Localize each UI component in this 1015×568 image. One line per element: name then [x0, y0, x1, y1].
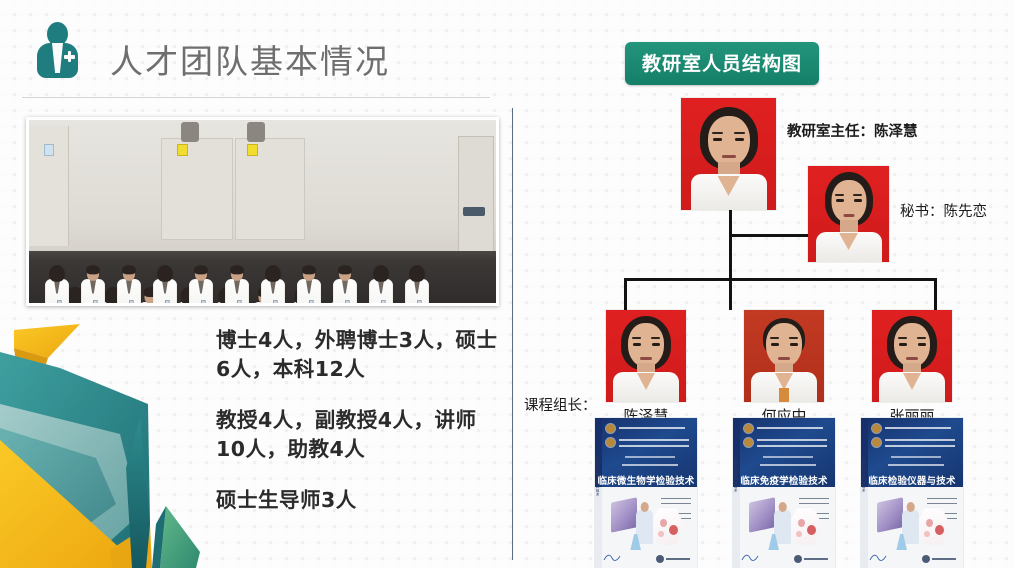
portrait-leader-2 — [744, 310, 824, 402]
portrait-eye-left — [633, 343, 641, 346]
photo-biohazard-sign-right — [247, 144, 258, 156]
book-title: 临床免疫学检验技术 — [733, 473, 835, 487]
book-spine — [861, 418, 868, 568]
portrait-director — [681, 98, 776, 210]
book-publisher-logo — [794, 555, 828, 563]
stat-line-supervisors: 硕士生导师3人 — [216, 486, 498, 515]
book-subtitle-line-5 — [760, 464, 816, 466]
portrait-brow-right — [789, 337, 798, 339]
portrait-brow-right — [651, 337, 660, 339]
photo-person-badge — [93, 300, 98, 306]
portrait-brow-left — [770, 337, 779, 339]
book-illustration — [609, 496, 684, 550]
book-subtitle-line-4 — [625, 456, 675, 458]
book-subtitle-line-3 — [885, 445, 955, 447]
book-publisher-logo — [656, 555, 690, 563]
book-illus-person-head — [778, 502, 787, 512]
org-line-branch-horizontal — [624, 278, 937, 281]
portrait-leader-1 — [606, 310, 686, 402]
book-emblem-top — [744, 424, 753, 433]
portrait-eye-right — [790, 343, 798, 346]
portrait-brow-left — [898, 337, 907, 339]
photo-person-badge — [381, 300, 386, 306]
photo-person-badge — [417, 300, 422, 306]
stat-line-titles: 教授4人，副教授4人，讲师10人，助教4人 — [216, 406, 498, 464]
portrait-brow-left — [835, 194, 844, 196]
book-subtitle-line-2 — [619, 439, 689, 441]
section-badge: 教研室人员结构图 — [625, 42, 819, 85]
book-illus-dot-3 — [924, 531, 930, 538]
photo-door-sign — [44, 144, 54, 156]
book-publisher-name — [932, 558, 956, 560]
book-emblem-bottom — [872, 438, 881, 447]
book-cover-2: 临床免疫学检验技术临床免疫学检验技术 — [733, 418, 835, 568]
photo-person-hair — [373, 265, 389, 282]
org-line-branch-right — [934, 278, 937, 310]
portrait-brow-left — [712, 132, 723, 134]
portrait-mouth — [906, 357, 918, 360]
org-line-branch-left — [624, 278, 627, 310]
book-cover-3: 临床检验仪器与技术临床检验仪器与技术 — [861, 418, 963, 568]
photo-person-badge — [201, 300, 206, 306]
book-emblem-top — [606, 424, 615, 433]
book-illus-dot-1 — [798, 519, 805, 527]
photo-person-hair — [157, 265, 173, 282]
book-subtitle-line-4 — [763, 456, 813, 458]
book-signature — [603, 553, 625, 562]
book-emblem-bottom — [606, 438, 615, 447]
medical-cross-icon-vertical — [68, 51, 72, 62]
book-illus-person — [636, 510, 653, 543]
book-spine — [733, 418, 740, 568]
header-divider — [22, 97, 490, 98]
book-illus-person — [902, 510, 919, 543]
org-label-director: 教研室主任：陈泽慧 — [787, 120, 918, 141]
photo-person-hair — [194, 265, 208, 274]
portrait-eye-left — [771, 343, 779, 346]
book-subtitle-line-5 — [888, 464, 944, 466]
book-illus-hexagon — [650, 508, 685, 545]
book-publisher-name — [666, 558, 690, 560]
deco-green-wedge — [160, 506, 200, 568]
team-statistics: 博士4人，外聘博士3人，硕士6人，本科12人 教授4人，副教授4人，讲师10人，… — [216, 326, 498, 516]
portrait-secretary — [808, 166, 889, 262]
photo-person-hair — [230, 265, 244, 274]
book-illus-person-head — [906, 502, 915, 512]
photo-duct-right — [247, 122, 265, 142]
photo-person-hair — [409, 265, 425, 282]
book-illus-box — [749, 498, 775, 534]
book-illustration — [875, 496, 950, 550]
book-illus-box — [877, 498, 903, 534]
portrait-eye-right — [652, 343, 660, 346]
photo-person-hair — [265, 265, 281, 282]
book-publisher-name — [804, 558, 828, 560]
book-illus-hexagon — [788, 508, 823, 545]
photo-duct-left — [181, 122, 199, 142]
book-publisher-mark — [794, 555, 802, 563]
book-subtitle-line-1 — [757, 427, 823, 429]
portrait-eye-left — [836, 199, 844, 202]
org-label-secretary: 秘书：陈先恋 — [900, 200, 987, 221]
book-cover-1: 临床微生物学检验技术临床微生物学检验技术 — [595, 418, 697, 568]
book-illustration — [747, 496, 822, 550]
book-subtitle-line-2 — [757, 439, 827, 441]
portrait-brow-right — [734, 132, 745, 134]
book-emblem-bottom — [744, 438, 753, 447]
portrait-mouth — [722, 155, 736, 158]
photo-lab-freezer — [458, 136, 494, 256]
book-emblem-top — [872, 424, 881, 433]
book-illus-box — [611, 498, 637, 534]
book-signature — [869, 553, 891, 562]
portrait-brow-right — [917, 337, 926, 339]
photo-person-badge — [273, 300, 278, 306]
portrait-mouth — [843, 214, 854, 217]
book-illus-dot-1 — [660, 519, 667, 527]
portrait-mouth — [778, 357, 790, 360]
portrait-tie — [779, 388, 789, 402]
portrait-eye-left — [899, 343, 907, 346]
photo-person-hair — [122, 265, 136, 274]
book-illus-dot-1 — [926, 519, 933, 527]
doctor-icon — [34, 22, 80, 78]
book-title: 临床检验仪器与技术 — [861, 473, 963, 487]
photo-person-badge — [57, 300, 62, 306]
book-illus-hexagon — [916, 508, 951, 545]
book-illus-dot-2 — [935, 525, 944, 535]
book-subtitle-line-4 — [891, 456, 941, 458]
book-publisher-logo — [922, 555, 956, 563]
portrait-eye-right — [854, 199, 862, 202]
photo-cabinet-right — [235, 138, 305, 240]
team-group-photo — [26, 117, 499, 306]
book-subtitle-line-3 — [619, 445, 689, 447]
book-subtitle-line-1 — [619, 427, 685, 429]
portrait-brow-left — [632, 337, 641, 339]
portrait-brow-right — [853, 194, 862, 196]
decorative-origami-shapes — [0, 318, 210, 568]
photo-person-badge — [345, 300, 350, 306]
photo-person-badge — [129, 300, 134, 306]
book-illus-person — [774, 510, 791, 543]
book-subtitle-line-5 — [622, 464, 678, 466]
photo-person-hair — [86, 265, 100, 274]
org-chart: 教研室主任：陈泽慧 秘书：陈先恋 课程组长： 陈泽慧临床微生物学检验技术临床微生… — [512, 88, 1015, 568]
photo-person-badge — [309, 300, 314, 306]
portrait-eye-right — [918, 343, 926, 346]
photo-person-hair — [49, 265, 65, 282]
book-publisher-mark — [922, 555, 930, 563]
book-illus-dot-3 — [796, 531, 802, 538]
book-subtitle-line-1 — [885, 427, 951, 429]
book-illus-dot-3 — [658, 531, 664, 538]
page-title: 人才团队基本情况 — [110, 35, 390, 83]
photo-person-hair — [302, 265, 316, 274]
photo-cabinet-left — [161, 138, 233, 240]
photo-person-badge — [237, 300, 242, 306]
portrait-face — [831, 180, 866, 223]
photo-biohazard-sign-left — [177, 144, 188, 156]
photo-freezer-panel — [463, 207, 485, 216]
slide-canvas: 人才团队基本情况 教研室人员结构图 博士4人，外聘博士3人，硕士6人，本科12人… — [0, 0, 1015, 568]
portrait-eye-left — [713, 138, 722, 141]
book-illus-dot-2 — [669, 525, 678, 535]
portrait-leader-3 — [872, 310, 952, 402]
portrait-mouth — [640, 357, 652, 360]
book-illus-dot-2 — [807, 525, 816, 535]
portrait-eye-right — [735, 138, 744, 141]
book-signature — [741, 553, 763, 562]
photo-person-hair — [338, 265, 352, 274]
org-line-branch-center — [729, 278, 732, 310]
org-label-group-leader: 课程组长： — [524, 394, 597, 415]
book-publisher-mark — [656, 555, 664, 563]
book-subtitle-line-2 — [885, 439, 955, 441]
stat-line-education: 博士4人，外聘博士3人，硕士6人，本科12人 — [216, 326, 498, 384]
portrait-face — [708, 116, 750, 166]
book-subtitle-line-3 — [757, 445, 827, 447]
photo-person-badge — [165, 300, 170, 306]
org-line-director-down — [729, 210, 732, 280]
book-title: 临床微生物学检验技术 — [595, 473, 697, 487]
book-illus-person-head — [640, 502, 649, 512]
